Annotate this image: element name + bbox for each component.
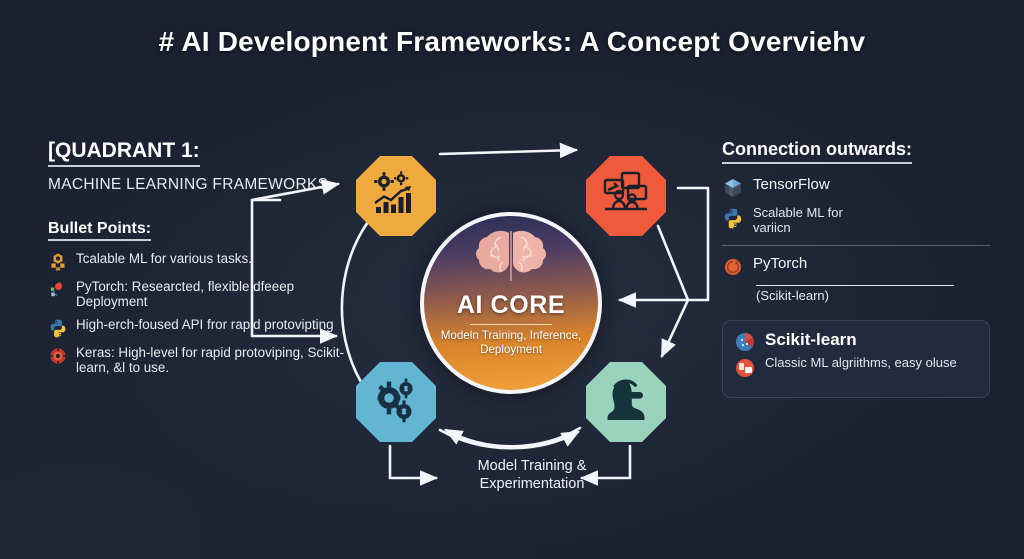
core-title: AI CORE (457, 291, 565, 320)
page-title: # AI Developnent Frameworks: A Concept O… (0, 26, 1024, 58)
node-vr-headset[interactable] (586, 362, 666, 442)
divider (470, 324, 552, 325)
python-logo-icon (48, 318, 68, 338)
divider (722, 245, 990, 246)
card-title: Scikit-learn (765, 330, 857, 350)
brain-icon (468, 228, 554, 289)
keras-logo-icon (48, 346, 68, 366)
divider (756, 285, 954, 287)
node-presentation-team[interactable] (586, 156, 666, 236)
node-gears[interactable] (356, 362, 436, 442)
scikit-learn-red-icon (734, 357, 756, 379)
node-gears-analytics[interactable] (356, 156, 436, 236)
list-item: Scalable ML for variicn (722, 206, 990, 236)
list-item-label: Tcalable ML for various tasks. (76, 251, 252, 266)
vr-headset-head-icon (601, 375, 651, 430)
ai-core-circle[interactable]: AI CORE Modeln Training, Inference, Depl… (420, 212, 602, 394)
list-item: PyTorch (722, 255, 990, 278)
concept-diagram: AI CORE Modeln Training, Inference, Depl… (290, 140, 730, 540)
list-item: TensorFlow (722, 176, 990, 199)
list-item-label: PyTorch (753, 255, 807, 272)
right-panel: Connection outwards: TensorFlow (722, 139, 990, 398)
connection-outwards-heading: Connection outwards: (722, 139, 912, 164)
quadrant-heading: [QUADRANT 1: (48, 139, 200, 167)
list-item-sublabel: variicn (753, 221, 843, 236)
core-subtitle: Modeln Training, Inference, Deployment (436, 329, 586, 357)
gears-analytics-icon (371, 169, 421, 224)
scikit-learn-card[interactable]: Scikit-learn Classic ML algriithms, easy… (722, 320, 990, 398)
scikit-learn-parenthetical: (Scikit-learn) (756, 289, 990, 304)
tensorflow-gear-icon (48, 252, 68, 272)
pytorch-flame-icon (48, 280, 68, 300)
bullet-points-label: Bullet Points: (48, 220, 151, 241)
bottom-label: Model Training & Experimentation (442, 458, 622, 493)
scikit-learn-pie-icon (734, 331, 756, 353)
diagram-canvas: # AI Developnent Frameworks: A Concept O… (0, 0, 1024, 559)
monitors-presentation-icon (601, 169, 651, 224)
list-item-label: Scalable ML for (753, 206, 843, 221)
list-item-label: TensorFlow (753, 176, 830, 193)
card-description: Classic ML algriithms, easy oluse (765, 356, 957, 371)
gears-icon (371, 375, 421, 430)
